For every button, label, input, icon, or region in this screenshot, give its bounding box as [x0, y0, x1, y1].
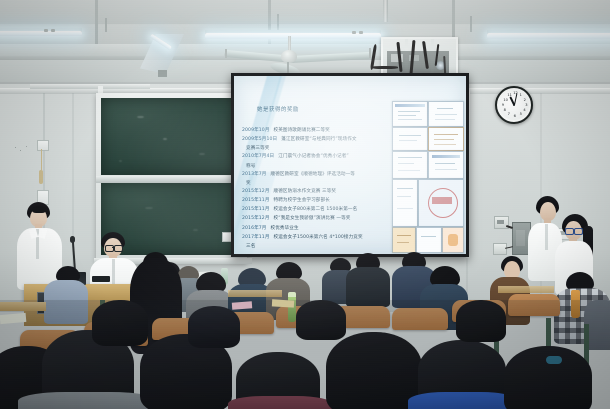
- electrical-panel-box: [493, 243, 507, 255]
- slide-row: 2013年7月顺德区教研室《顺德地理》评选活动一等: [242, 160, 355, 179]
- podium-object: [92, 276, 110, 282]
- chalkboard-divider: [96, 176, 247, 183]
- fluorescent-tube-light: [0, 31, 82, 36]
- eyeglasses-icon: [114, 245, 123, 252]
- desk-edge: [0, 302, 46, 311]
- foreground-torso: [18, 392, 158, 409]
- seated-audience-students: [296, 300, 346, 340]
- foreground-torso: [228, 396, 332, 409]
- green-chalkboard: [101, 98, 242, 175]
- eyeglasses-icon: [565, 228, 574, 235]
- water-bottle-on-desk: [571, 290, 580, 318]
- desk-paper: [272, 299, 294, 307]
- desk-edge: [228, 290, 282, 297]
- seated-audience-students: [188, 306, 240, 348]
- eyeglasses-icon: [574, 228, 583, 235]
- desk-paper: [0, 313, 26, 324]
- classroom-presentation-photo: 12 1 2 3 4 5 6 7 8 9 10 11: [0, 0, 610, 409]
- wall-panel-frame: [30, 84, 150, 89]
- slide-row-text: 三名: [246, 243, 255, 249]
- slide-row: 2017年11月校运会女子1500米第六名 4*100接力竞奖: [242, 223, 363, 242]
- desk-paper: [232, 301, 252, 309]
- slide-row-text: 蓬江区教研室“与经典同行”现场作文: [281, 136, 356, 142]
- slide-row-text: 江门晨气小记者协会“优秀小记者”: [278, 153, 349, 159]
- microphone-capsule: [70, 236, 75, 243]
- slide-row: 2010年7月4日江门晨气小记者协会“优秀小记者”: [242, 142, 349, 161]
- wooden-chair-back: [508, 294, 560, 316]
- slide-row-text: 校运会女子1500米第六名 4*100接力竞奖: [274, 234, 363, 240]
- wooden-chair-back: [392, 308, 448, 330]
- analog-wall-clock: 12 1 2 3 4 5 6 7 8 9 10 11: [495, 86, 533, 124]
- seated-audience-students: [92, 300, 148, 346]
- light-switch-plate: [37, 140, 49, 151]
- foreground-head: [326, 332, 422, 409]
- seated-audience-students: [456, 300, 506, 342]
- foreground-torso: [408, 392, 518, 409]
- slide-row: 三名: [242, 232, 255, 251]
- slide-row-text: 顺德区教研室《顺德地理》评选活动一等: [271, 171, 356, 177]
- slide-title: 她是获得的奖励: [257, 105, 299, 113]
- hair-tie: [546, 356, 562, 364]
- fluorescent-tube-light: [487, 33, 610, 39]
- pull-cord: [41, 149, 42, 171]
- fan-motor: [281, 50, 297, 63]
- projection-screen: 她是获得的奖励 2009年10月校英图诗歌朗诵比赛二等奖2009年5月10日蓬江…: [231, 73, 469, 257]
- award-certificate-photo-collage: [392, 101, 464, 251]
- pull-cord-weight: [39, 170, 43, 184]
- desk-edge: [498, 286, 554, 293]
- ceiling: [0, 0, 610, 82]
